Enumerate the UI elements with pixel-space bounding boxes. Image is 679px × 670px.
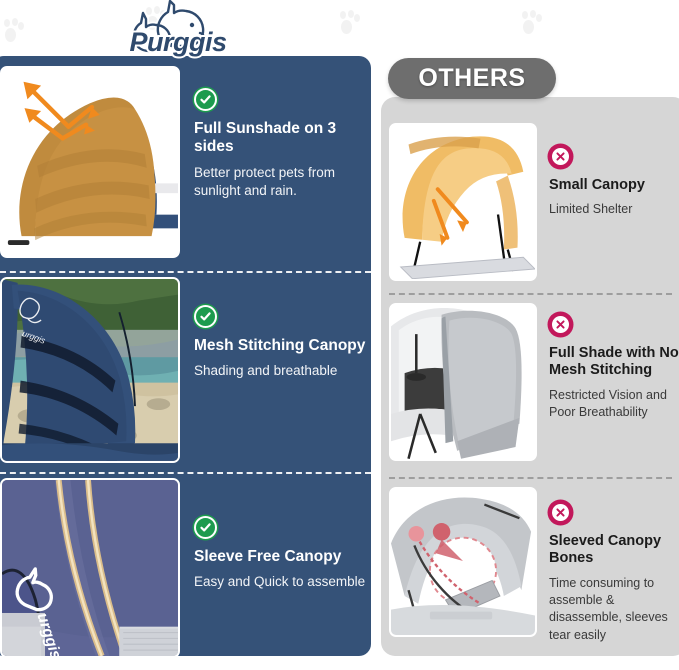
others-feature-row: Small Canopy Limited Shelter (389, 123, 679, 283)
ours-feature-image: urggis (0, 277, 180, 463)
cross-circle-icon (549, 145, 572, 168)
ours-feature-image (0, 66, 180, 258)
others-feature-text: Full Shade with No Mesh Stitching Restri… (537, 303, 679, 463)
others-feature-description: Time consuming to assemble & disassemble… (549, 575, 679, 644)
ours-feature-row: urggis Mesh Stitching Canopy Shading and… (0, 277, 371, 467)
ours-row-divider (0, 271, 371, 273)
ours-feature-text: Mesh Stitching Canopy Shading and breath… (180, 277, 371, 467)
others-feature-row: Sleeved Canopy Bones Time consuming to a… (389, 487, 679, 647)
paw-print-watermark (339, 10, 365, 36)
paw-print-watermark (4, 18, 30, 44)
check-circle-icon (194, 516, 217, 539)
ours-feature-title: Sleeve Free Canopy (194, 548, 371, 566)
ours-feature-description: Easy and Quick to assemble (194, 573, 371, 591)
others-feature-description: Limited Shelter (549, 201, 679, 218)
ours-feature-image: urggis (0, 478, 180, 658)
ours-feature-title: Full Sunshade on 3 sides (194, 120, 371, 157)
others-feature-image (389, 123, 537, 281)
others-column-header: OTHERS (388, 58, 556, 99)
ours-feature-text: Full Sunshade on 3 sides Better protect … (180, 66, 371, 261)
ours-feature-row: urggis Sleeve Free Canopy Easy and Quick… (0, 478, 371, 660)
ours-feature-text: Sleeve Free Canopy Easy and Quick to ass… (180, 478, 371, 660)
others-feature-title: Sleeved Canopy Bones (549, 533, 679, 568)
others-feature-row: Full Shade with No Mesh Stitching Restri… (389, 303, 679, 463)
ours-feature-description: Shading and breathable (194, 362, 371, 380)
others-label: OTHERS (418, 64, 525, 93)
cross-circle-icon (549, 501, 572, 524)
others-feature-description: Restricted Vision and Poor Breathability (549, 387, 679, 422)
others-feature-text: Sleeved Canopy Bones Time consuming to a… (537, 487, 679, 647)
check-circle-icon (194, 88, 217, 111)
check-circle-icon (194, 305, 217, 328)
others-feature-title: Full Shade with No Mesh Stitching (549, 345, 679, 380)
others-feature-image (389, 303, 537, 461)
others-row-divider (389, 293, 672, 295)
paw-print-watermark (521, 10, 547, 36)
others-feature-text: Small Canopy Limited Shelter (537, 123, 679, 283)
ours-feature-description: Better protect pets from sunlight and ra… (194, 164, 371, 200)
ours-feature-row: Full Sunshade on 3 sides Better protect … (0, 66, 371, 261)
cross-circle-icon (549, 313, 572, 336)
others-feature-image (389, 487, 537, 637)
ours-row-divider (0, 472, 371, 474)
brand-name: Purggis (129, 27, 226, 58)
comparison-infographic: OTHERS Purggis (0, 0, 679, 670)
ours-feature-title: Mesh Stitching Canopy (194, 337, 371, 355)
brand-logo: Purggis (108, 0, 248, 60)
others-row-divider (389, 477, 672, 479)
others-feature-title: Small Canopy (549, 177, 679, 194)
